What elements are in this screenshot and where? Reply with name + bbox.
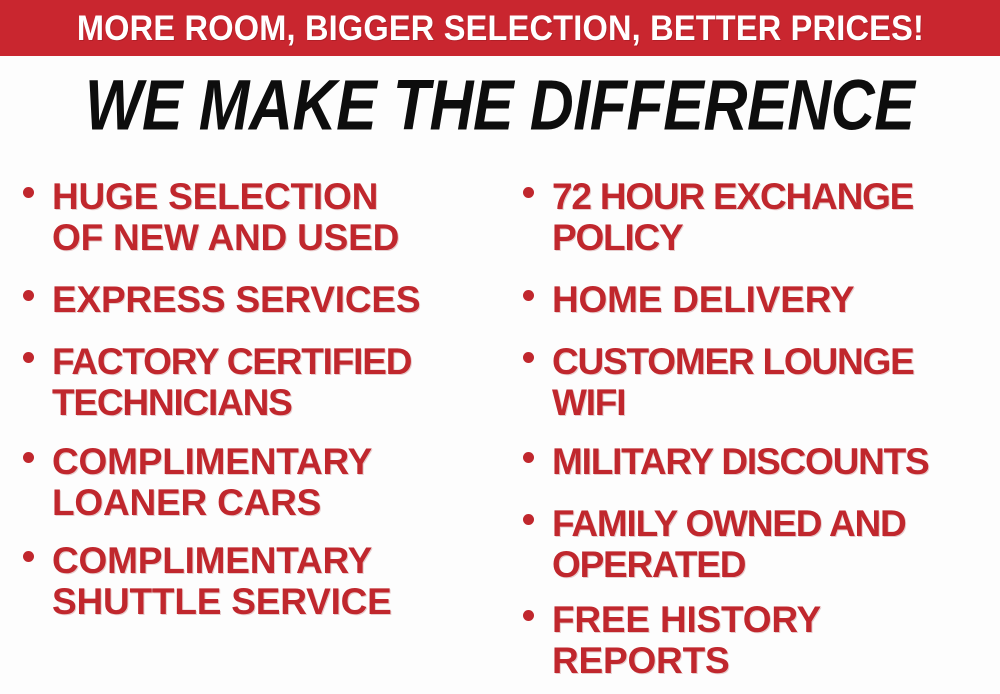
list-item: EXPRESS SERVICES bbox=[14, 279, 420, 320]
benefits-column-right: 72 HOUR EXCHANGE POLICY HOME DELIVERY CU… bbox=[514, 160, 1000, 694]
list-item-label: HOME DELIVERY bbox=[552, 279, 854, 320]
list-item-label: FACTORY CERTIFIED TECHNICIANS bbox=[52, 341, 411, 423]
bullet-dot-icon bbox=[523, 187, 534, 198]
list-item: COMPLIMENTARY LOANER CARS bbox=[14, 441, 372, 523]
list-item: 72 HOUR EXCHANGE POLICY bbox=[514, 176, 913, 258]
list-item: FACTORY CERTIFIED TECHNICIANS bbox=[14, 341, 411, 423]
list-item-label: MILITARY DISCOUNTS bbox=[552, 441, 929, 482]
bullet-dot-icon bbox=[23, 352, 34, 363]
bullet-dot-icon bbox=[523, 290, 534, 301]
bullet-dot-icon bbox=[23, 551, 34, 562]
list-item-label: EXPRESS SERVICES bbox=[52, 279, 420, 320]
list-item: FAMILY OWNED AND OPERATED bbox=[514, 503, 906, 585]
list-item-label: CUSTOMER LOUNGE WIFI bbox=[552, 341, 914, 423]
bullet-dot-icon bbox=[523, 352, 534, 363]
top-banner: MORE ROOM, BIGGER SELECTION, BETTER PRIC… bbox=[0, 0, 1000, 56]
headline-container: WE MAKE THE DIFFERENCE bbox=[0, 66, 1000, 144]
bullet-dot-icon bbox=[23, 290, 34, 301]
list-item: HUGE SELECTION OF NEW AND USED bbox=[14, 176, 399, 258]
bullet-dot-icon bbox=[23, 452, 34, 463]
list-item: MILITARY DISCOUNTS bbox=[514, 441, 929, 482]
benefits-columns: HUGE SELECTION OF NEW AND USED EXPRESS S… bbox=[0, 160, 1000, 694]
bullet-dot-icon bbox=[23, 187, 34, 198]
bullet-dot-icon bbox=[523, 514, 534, 525]
main-headline: WE MAKE THE DIFFERENCE bbox=[85, 69, 915, 140]
list-item-label: 72 HOUR EXCHANGE POLICY bbox=[552, 176, 913, 258]
banner-headline-text: MORE ROOM, BIGGER SELECTION, BETTER PRIC… bbox=[76, 11, 923, 46]
benefits-column-left: HUGE SELECTION OF NEW AND USED EXPRESS S… bbox=[14, 160, 504, 694]
bullet-dot-icon bbox=[523, 452, 534, 463]
list-item: FREE HISTORY REPORTS bbox=[514, 599, 821, 681]
list-item-label: COMPLIMENTARY SHUTTLE SERVICE bbox=[52, 540, 392, 622]
bullet-dot-icon bbox=[523, 610, 534, 621]
list-item-label: COMPLIMENTARY LOANER CARS bbox=[52, 441, 372, 523]
list-item: CUSTOMER LOUNGE WIFI bbox=[514, 341, 914, 423]
promo-poster: MORE ROOM, BIGGER SELECTION, BETTER PRIC… bbox=[0, 0, 1000, 694]
list-item-label: FREE HISTORY REPORTS bbox=[552, 599, 821, 681]
list-item-label: FAMILY OWNED AND OPERATED bbox=[552, 503, 906, 585]
list-item: COMPLIMENTARY SHUTTLE SERVICE bbox=[14, 540, 392, 622]
list-item: HOME DELIVERY bbox=[514, 279, 854, 320]
list-item-label: HUGE SELECTION OF NEW AND USED bbox=[52, 176, 399, 258]
